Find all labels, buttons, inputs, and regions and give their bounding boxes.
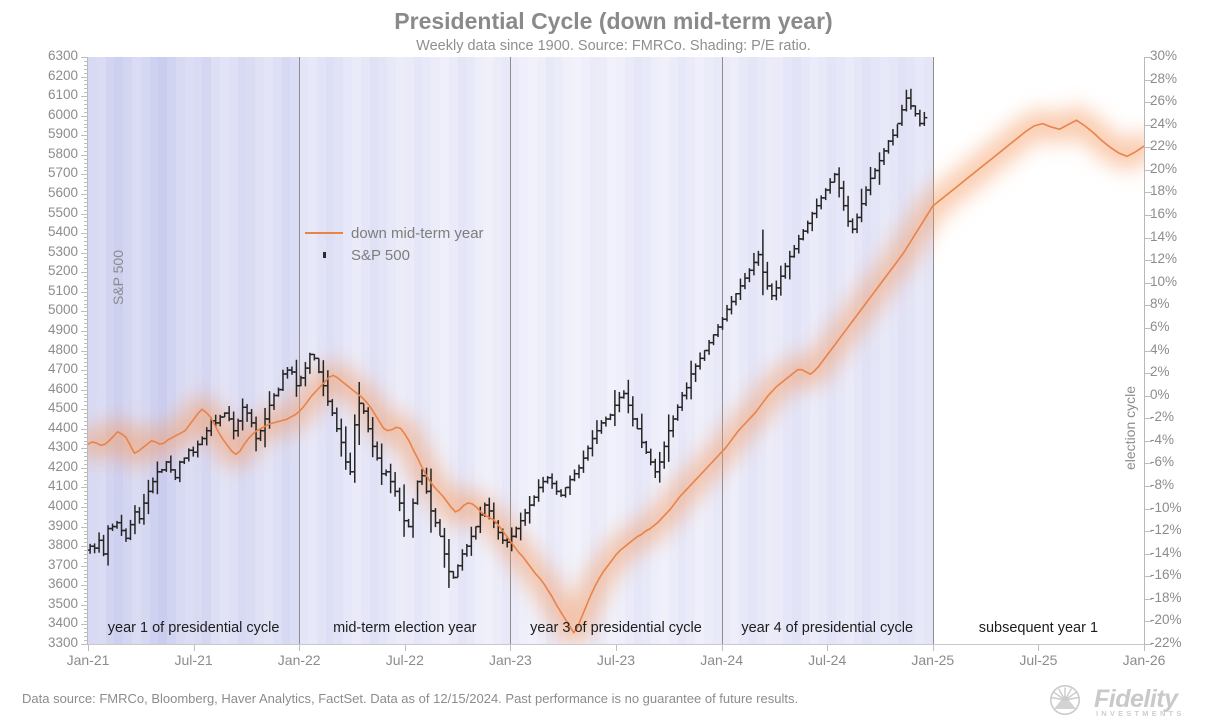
y2-axis-tick-label: -20% <box>1150 613 1210 627</box>
y-axis-tick-label: 5500 <box>18 206 78 220</box>
y-axis-minor-tick <box>84 69 88 70</box>
y2-axis-tick-label: -8% <box>1150 478 1210 492</box>
y-axis-tick <box>81 253 88 254</box>
y-axis-tick-label: 5100 <box>18 284 78 298</box>
y-axis-tick <box>81 390 88 391</box>
y-axis-minor-tick <box>84 523 88 524</box>
x-axis-tick <box>194 645 195 651</box>
y-axis-minor-tick <box>84 589 88 590</box>
y2-axis-tick-label: -18% <box>1150 591 1210 605</box>
y-axis-minor-tick <box>84 378 88 379</box>
y-axis-minor-tick <box>84 441 88 442</box>
x-axis-tick-label: Jul-21 <box>149 652 239 668</box>
y2-axis-tick-label: 22% <box>1150 139 1210 153</box>
y2-axis-tick <box>1145 238 1152 239</box>
y-axis-minor-tick <box>84 581 88 582</box>
y-axis-tick <box>81 351 88 352</box>
y-axis-tick <box>81 311 88 312</box>
y-axis-minor-tick <box>84 190 88 191</box>
y-axis-minor-tick <box>84 362 88 363</box>
y-axis-tick <box>81 468 88 469</box>
y-axis-minor-tick <box>84 315 88 316</box>
y-axis-minor-tick <box>84 284 88 285</box>
y-axis-minor-tick <box>84 178 88 179</box>
y-axis-minor-tick <box>84 61 88 62</box>
x-axis-tick-label: Jan-22 <box>254 652 344 668</box>
y-axis-minor-tick <box>84 210 88 211</box>
y2-axis-tick <box>1145 351 1152 352</box>
y-axis-tick <box>81 605 88 606</box>
y-axis-minor-tick <box>84 104 88 105</box>
y-axis-tick-label: 4700 <box>18 362 78 376</box>
y-axis-minor-tick <box>84 151 88 152</box>
y-axis-tick <box>81 214 88 215</box>
y-axis-minor-tick <box>84 167 88 168</box>
y-axis-tick <box>81 194 88 195</box>
y-axis-tick-label: 4300 <box>18 440 78 454</box>
y-axis-minor-tick <box>84 147 88 148</box>
y2-axis-tick-label: -12% <box>1150 523 1210 537</box>
x-axis-tick-label: Jan-23 <box>465 652 555 668</box>
y-axis-minor-tick <box>84 249 88 250</box>
y2-axis-tick-label: 28% <box>1150 72 1210 86</box>
y-axis-tick-label: 3500 <box>18 597 78 611</box>
y-axis-tick <box>81 233 88 234</box>
y-axis-minor-tick <box>84 425 88 426</box>
chart-subtitle: Weekly data since 1900. Source: FMRCo. S… <box>0 38 1227 54</box>
y-axis-minor-tick <box>84 542 88 543</box>
y-axis-tick-label: 4000 <box>18 499 78 513</box>
down-midterm-year-line <box>88 57 1144 644</box>
y-axis-minor-tick <box>84 444 88 445</box>
fidelity-logo: Fidelity INVESTMENTS <box>1042 684 1218 718</box>
y-axis-minor-tick <box>84 484 88 485</box>
y-axis-minor-tick <box>84 221 88 222</box>
y-axis-minor-tick <box>84 554 88 555</box>
y2-axis-tick-label: 12% <box>1150 252 1210 266</box>
y-axis-minor-tick <box>84 288 88 289</box>
y-axis-minor-tick <box>84 511 88 512</box>
y2-axis-tick <box>1145 125 1152 126</box>
y-axis-minor-tick <box>84 495 88 496</box>
y2-axis-tick-label: -10% <box>1150 501 1210 515</box>
y2-axis-tick <box>1145 418 1152 419</box>
y-axis-minor-tick <box>84 531 88 532</box>
y-axis-minor-tick <box>84 577 88 578</box>
y-axis-minor-tick <box>84 241 88 242</box>
y2-axis-tick-label: 14% <box>1150 230 1210 244</box>
x-axis-tick <box>827 645 828 651</box>
y2-axis-tick <box>1145 192 1152 193</box>
y-axis-minor-tick <box>84 304 88 305</box>
y-axis-minor-tick <box>84 354 88 355</box>
y-axis-minor-tick <box>84 515 88 516</box>
band-label: year 4 of presidential cycle <box>722 620 933 636</box>
y2-axis-tick <box>1145 621 1152 622</box>
y-axis-tick-label: 5800 <box>18 147 78 161</box>
y-axis-tick-label: 6100 <box>18 88 78 102</box>
y2-axis-tick-label: 26% <box>1150 94 1210 108</box>
y-axis-tick-label: 5900 <box>18 127 78 141</box>
y2-axis-tick <box>1145 328 1152 329</box>
y-axis-minor-tick <box>84 503 88 504</box>
y-axis-minor-tick <box>84 534 88 535</box>
y-axis-minor-tick <box>84 613 88 614</box>
x-axis-tick <box>1144 645 1145 651</box>
y-axis-tick <box>81 77 88 78</box>
y-axis-minor-tick <box>84 617 88 618</box>
y2-axis-tick-label: -2% <box>1150 410 1210 424</box>
y-axis-minor-tick <box>84 237 88 238</box>
y-axis-minor-tick <box>84 421 88 422</box>
y-axis-tick-label: 3700 <box>18 558 78 572</box>
y-axis-tick-label: 5400 <box>18 225 78 239</box>
y2-axis-tick-label: -14% <box>1150 546 1210 560</box>
band-label: year 1 of presidential cycle <box>88 620 299 636</box>
y2-axis-tick-label: 30% <box>1150 49 1210 63</box>
y-axis-tick <box>81 644 88 645</box>
y2-axis-tick-label: 20% <box>1150 162 1210 176</box>
legend-label-1: S&P 500 <box>351 247 410 264</box>
y-axis-minor-tick <box>84 405 88 406</box>
x-axis-tick <box>510 645 511 651</box>
y2-axis-tick <box>1145 486 1152 487</box>
y-axis-minor-tick <box>84 260 88 261</box>
x-axis-tick-label: Jan-21 <box>43 652 133 668</box>
y-axis-tick <box>81 370 88 371</box>
y-axis-minor-tick <box>84 464 88 465</box>
y2-axis-tick-label: -22% <box>1150 636 1210 650</box>
y-axis-minor-tick <box>84 92 88 93</box>
y2-axis-tick <box>1145 373 1152 374</box>
x-axis-tick-label: Jan-24 <box>677 652 767 668</box>
y-axis-minor-tick <box>84 358 88 359</box>
x-axis-tick <box>299 645 300 651</box>
y-axis-tick <box>81 292 88 293</box>
y2-axis-tick <box>1145 305 1152 306</box>
y-axis-tick <box>81 546 88 547</box>
y-axis-minor-tick <box>84 335 88 336</box>
y-axis-minor-tick <box>84 225 88 226</box>
y-axis-minor-tick <box>84 327 88 328</box>
y-axis-minor-tick <box>84 519 88 520</box>
y-axis-tick <box>81 331 88 332</box>
y-axis-minor-tick <box>84 394 88 395</box>
y-axis-tick <box>81 57 88 58</box>
y-axis-minor-tick <box>84 570 88 571</box>
y2-axis-tick <box>1145 147 1152 148</box>
fidelity-tagline: INVESTMENTS <box>1096 709 1185 718</box>
y-axis-minor-tick <box>84 80 88 81</box>
y-axis-tick <box>81 116 88 117</box>
chart-title: Presidential Cycle (down mid-term year) <box>0 8 1227 35</box>
y-axis-tick-label: 3300 <box>18 636 78 650</box>
y-axis-minor-tick <box>84 347 88 348</box>
y-axis-minor-tick <box>84 159 88 160</box>
y2-axis-tick-label: 16% <box>1150 207 1210 221</box>
y-axis-tick-label: 5600 <box>18 186 78 200</box>
y2-axis-tick <box>1145 170 1152 171</box>
y-axis-minor-tick <box>84 186 88 187</box>
x-axis-tick-label: Jul-23 <box>571 652 661 668</box>
y-axis-tick <box>81 566 88 567</box>
y-axis-tick <box>81 507 88 508</box>
y-axis-tick-label: 3600 <box>18 577 78 591</box>
y2-axis-tick-label: 10% <box>1150 275 1210 289</box>
y-axis-minor-tick <box>84 640 88 641</box>
y2-axis-tick-label: -6% <box>1150 455 1210 469</box>
y-axis-tick <box>81 272 88 273</box>
fidelity-pyramid-starburst-icon <box>1042 684 1088 716</box>
y-axis-minor-tick <box>84 401 88 402</box>
y2-axis-tick <box>1145 463 1152 464</box>
y-axis-minor-tick <box>84 562 88 563</box>
y-axis-minor-tick <box>84 139 88 140</box>
y-axis-minor-tick <box>84 574 88 575</box>
y-axis-minor-tick <box>84 480 88 481</box>
y-axis-minor-tick <box>84 198 88 199</box>
legend-item-sp500[interactable]: S&P 500 <box>305 244 484 266</box>
x-axis-tick <box>933 645 934 651</box>
y-axis-minor-tick <box>84 73 88 74</box>
y-axis-minor-tick <box>84 366 88 367</box>
y2-axis-tick <box>1145 396 1152 397</box>
y-axis-minor-tick <box>84 476 88 477</box>
y-axis-minor-tick <box>84 257 88 258</box>
y-axis-minor-tick <box>84 163 88 164</box>
y-axis-minor-tick <box>84 124 88 125</box>
y-axis-tick <box>81 135 88 136</box>
y-axis-minor-tick <box>84 433 88 434</box>
y-axis-minor-tick <box>84 264 88 265</box>
footer-disclaimer: Data source: FMRCo, Bloomberg, Haver Ana… <box>22 691 798 706</box>
y-axis-minor-tick <box>84 437 88 438</box>
y-axis-minor-tick <box>84 229 88 230</box>
y-axis-minor-tick <box>84 217 88 218</box>
x-axis-tick-label: Jul-24 <box>782 652 872 668</box>
y-axis-minor-tick <box>84 339 88 340</box>
legend-label-0: down mid-term year <box>351 225 484 242</box>
y-axis-minor-tick <box>84 268 88 269</box>
y-axis-minor-tick <box>84 65 88 66</box>
y-axis-minor-tick <box>84 472 88 473</box>
y-axis-tick <box>81 155 88 156</box>
y2-axis-tick <box>1145 554 1152 555</box>
y-axis-tick-label: 4900 <box>18 323 78 337</box>
y-axis-tick-label: 5300 <box>18 245 78 259</box>
x-axis-tick <box>616 645 617 651</box>
y-axis-minor-tick <box>84 323 88 324</box>
x-axis-tick <box>88 645 89 651</box>
x-axis-tick <box>722 645 723 651</box>
y-axis-minor-tick <box>84 452 88 453</box>
y2-axis-tick <box>1145 576 1152 577</box>
chart-legend: down mid-term year S&P 500 <box>305 222 484 266</box>
y-axis-minor-tick <box>84 206 88 207</box>
y-axis-tick <box>81 487 88 488</box>
y-axis-minor-tick <box>84 343 88 344</box>
y-axis-minor-tick <box>84 245 88 246</box>
x-axis-tick-label: Jul-25 <box>993 652 1083 668</box>
y-axis-minor-tick <box>84 609 88 610</box>
y-axis-minor-tick <box>84 280 88 281</box>
y-axis-tick <box>81 585 88 586</box>
y-axis-tick <box>81 448 88 449</box>
y-axis-minor-tick <box>84 499 88 500</box>
y2-axis-tick-label: 18% <box>1150 184 1210 198</box>
y2-axis-tick-label: 4% <box>1150 343 1210 357</box>
left-axis-title: S&P 500 <box>110 250 126 305</box>
y2-axis-tick <box>1145 102 1152 103</box>
y-axis-tick-label: 3800 <box>18 538 78 552</box>
y-axis-minor-tick <box>84 460 88 461</box>
y-axis-minor-tick <box>84 550 88 551</box>
y-axis-tick-label: 4800 <box>18 343 78 357</box>
plot-area <box>88 57 1144 644</box>
y-axis-minor-tick <box>84 108 88 109</box>
y-axis-minor-tick <box>84 597 88 598</box>
y2-axis-tick <box>1145 509 1152 510</box>
y-axis-minor-tick <box>84 538 88 539</box>
y-axis-tick <box>81 409 88 410</box>
right-axis-title: election cycle <box>1122 386 1138 470</box>
y-axis-minor-tick <box>84 417 88 418</box>
y-axis-minor-tick <box>84 491 88 492</box>
y2-axis-tick <box>1145 57 1152 58</box>
y-axis-tick-label: 4400 <box>18 421 78 435</box>
y2-axis-tick-label: 0% <box>1150 388 1210 402</box>
y-axis-tick-label: 3400 <box>18 616 78 630</box>
y-axis-minor-tick <box>84 296 88 297</box>
y2-axis-tick-label: -4% <box>1150 433 1210 447</box>
y2-axis-tick <box>1145 80 1152 81</box>
line-swatch-icon <box>305 232 343 234</box>
y2-axis-tick-label: 8% <box>1150 297 1210 311</box>
y-axis-tick <box>81 624 88 625</box>
band-label: year 3 of presidential cycle <box>510 620 721 636</box>
y-axis-minor-tick <box>84 182 88 183</box>
y-axis-minor-tick <box>84 131 88 132</box>
y2-axis-tick <box>1145 644 1152 645</box>
y-axis-tick <box>81 429 88 430</box>
y-axis-minor-tick <box>84 558 88 559</box>
y2-axis-tick-label: 2% <box>1150 365 1210 379</box>
y-axis-minor-tick <box>84 202 88 203</box>
y2-axis-tick <box>1145 260 1152 261</box>
ohlc-bar-swatch-icon <box>305 252 343 258</box>
y-axis-tick-label: 6000 <box>18 108 78 122</box>
y2-axis-tick-label: -16% <box>1150 568 1210 582</box>
y-axis-minor-tick <box>84 397 88 398</box>
y2-axis-tick-label: 6% <box>1150 320 1210 334</box>
x-axis-tick-label: Jul-22 <box>360 652 450 668</box>
legend-item-down-midterm-year[interactable]: down mid-term year <box>305 222 484 244</box>
y-axis-tick-label: 6300 <box>18 49 78 63</box>
x-axis-tick <box>405 645 406 651</box>
y-axis-minor-tick <box>84 307 88 308</box>
y2-axis-tick <box>1145 215 1152 216</box>
y-axis-tick <box>81 174 88 175</box>
y-axis-tick-label: 4200 <box>18 460 78 474</box>
y-axis-minor-tick <box>84 120 88 121</box>
y-axis-minor-tick <box>84 100 88 101</box>
y-axis-tick-label: 4500 <box>18 401 78 415</box>
y-axis-tick-label: 5200 <box>18 264 78 278</box>
y2-axis-tick <box>1145 599 1152 600</box>
y-axis-minor-tick <box>84 386 88 387</box>
y-axis-tick <box>81 96 88 97</box>
y-axis-tick-label: 6200 <box>18 69 78 83</box>
y-axis-minor-tick <box>84 636 88 637</box>
y-axis-minor-tick <box>84 88 88 89</box>
y-axis-minor-tick <box>84 276 88 277</box>
y-axis-tick-label: 3900 <box>18 519 78 533</box>
y-axis-minor-tick <box>84 143 88 144</box>
x-axis-tick-label: Jan-25 <box>888 652 978 668</box>
y-axis-minor-tick <box>84 127 88 128</box>
y-axis-minor-tick <box>84 374 88 375</box>
y-axis-minor-tick <box>84 382 88 383</box>
y-axis-minor-tick <box>84 319 88 320</box>
y-axis-minor-tick <box>84 413 88 414</box>
y-axis-tick-label: 4600 <box>18 382 78 396</box>
y-axis-minor-tick <box>84 84 88 85</box>
x-axis-tick-label: Jan-26 <box>1099 652 1189 668</box>
y-axis-tick-label: 5700 <box>18 166 78 180</box>
y-axis-minor-tick <box>84 593 88 594</box>
band-label: subsequent year 1 <box>933 620 1144 636</box>
y-axis-minor-tick <box>84 456 88 457</box>
y2-axis-tick-label: 24% <box>1150 117 1210 131</box>
y2-axis-tick <box>1145 283 1152 284</box>
y2-axis-tick <box>1145 531 1152 532</box>
y-axis-minor-tick <box>84 601 88 602</box>
band-label: mid-term election year <box>299 620 510 636</box>
y2-axis-tick <box>1145 441 1152 442</box>
y-axis-tick-label: 4100 <box>18 479 78 493</box>
y-axis-tick-label: 5000 <box>18 303 78 317</box>
y-axis-minor-tick <box>84 170 88 171</box>
y-axis-tick <box>81 527 88 528</box>
y-axis-minor-tick <box>84 112 88 113</box>
y-axis-minor-tick <box>84 300 88 301</box>
x-axis-tick <box>1038 645 1039 651</box>
